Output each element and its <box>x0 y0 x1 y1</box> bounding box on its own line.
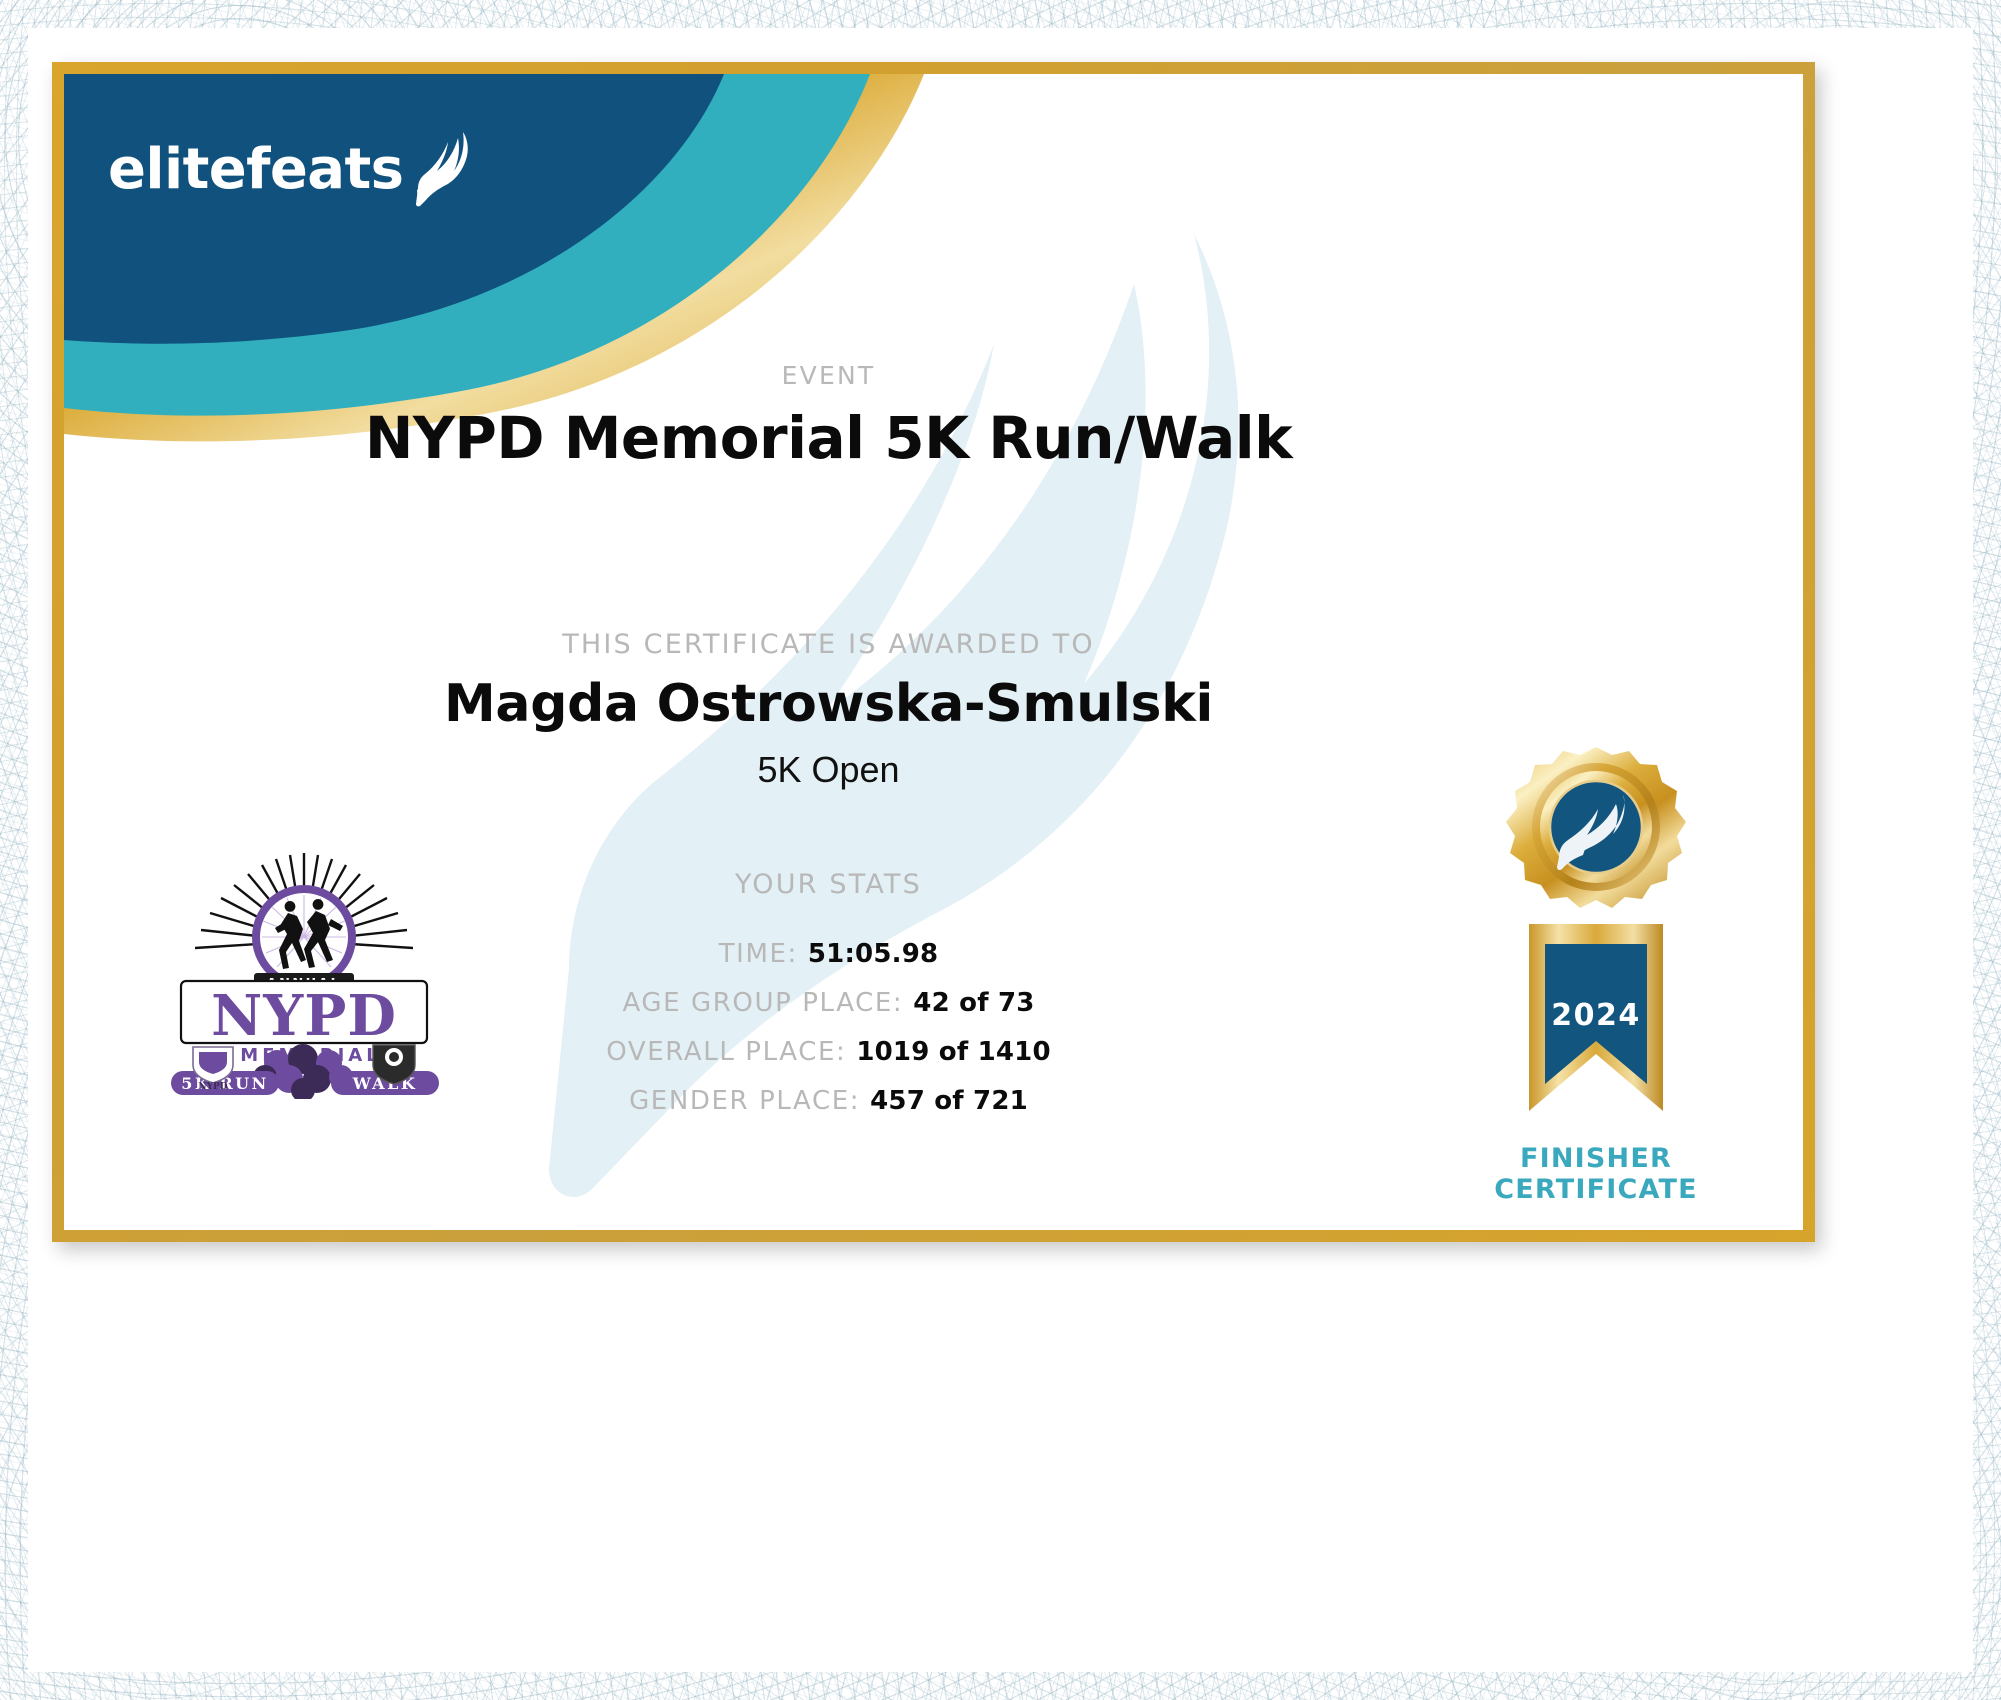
certificate-gold-frame: elitefeats EVENT NYPD Memorial 5K Run/Wa… <box>52 62 1815 1242</box>
stat-label: TIME: <box>719 939 798 969</box>
certificate-page: elitefeats EVENT NYPD Memorial 5K Run/Wa… <box>0 0 2001 1700</box>
event-title: NYPD Memorial 5K Run/Walk <box>64 404 1593 472</box>
nypd-wordmark: NYPD <box>211 983 397 1049</box>
brand-wordmark: elitefeats <box>108 137 403 202</box>
race-event-logo: ANNUAL NYPD MEMORIAL <box>159 849 449 1099</box>
winged-foot-icon <box>407 130 481 208</box>
stat-label: OVERALL PLACE: <box>606 1037 846 1067</box>
finisher-seal: 2024 <box>1451 739 1741 1205</box>
recipient-name: Magda Ostrowska-Smulski <box>64 674 1593 734</box>
certificate-card: elitefeats EVENT NYPD Memorial 5K Run/Wa… <box>64 74 1803 1230</box>
awarded-to-label: THIS CERTIFICATE IS AWARDED TO <box>64 629 1593 660</box>
stat-value: 457 of 721 <box>870 1086 1028 1116</box>
stat-label: GENDER PLACE: <box>629 1086 860 1116</box>
seal-caption-line1: FINISHER <box>1451 1143 1741 1174</box>
running-club-badge-icon: NYPD <box>193 1047 233 1092</box>
stat-value: 51:05.98 <box>808 939 938 969</box>
stat-label: AGE GROUP PLACE: <box>622 988 903 1018</box>
division-label: 5K Open <box>64 749 1593 791</box>
stat-value: 42 of 73 <box>913 988 1034 1018</box>
seal-year-text: 2024 <box>1551 998 1641 1033</box>
medal-rosette <box>1506 747 1686 908</box>
seal-caption: FINISHER CERTIFICATE <box>1451 1143 1741 1205</box>
event-label: EVENT <box>64 361 1593 390</box>
svg-text:NYPD: NYPD <box>198 1082 227 1092</box>
seal-graphic: 2024 <box>1471 739 1721 1139</box>
stat-value: 1019 of 1410 <box>856 1037 1050 1067</box>
seal-caption-line2: CERTIFICATE <box>1451 1174 1741 1205</box>
brand-logo: elitefeats <box>108 130 481 208</box>
